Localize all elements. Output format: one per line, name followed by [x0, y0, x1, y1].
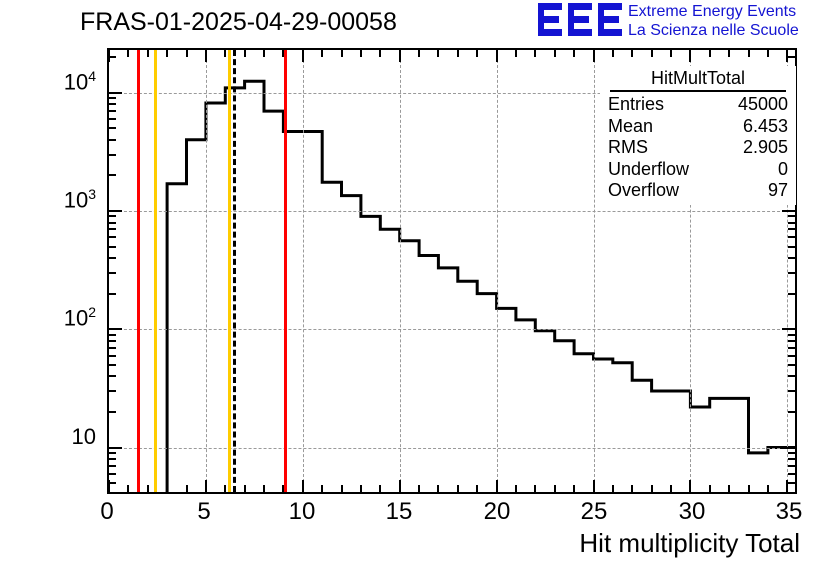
y-axis-tick: [109, 473, 116, 475]
x-axis-tick: [302, 480, 304, 492]
grid-line-horizontal: [109, 448, 795, 449]
stat-key: Entries: [608, 94, 664, 116]
x-axis-tick: [767, 50, 769, 57]
x-axis-tick: [748, 485, 750, 492]
y-axis-tick: [788, 228, 795, 230]
x-axis-tick: [244, 485, 246, 492]
y-axis-tick: [788, 452, 795, 454]
marker-line-yellow-high-cut: [228, 50, 231, 492]
y-axis-tick: [782, 447, 795, 449]
y-axis-tick: [109, 340, 116, 342]
x-axis-tick: [186, 485, 188, 492]
y-axis-tick: [788, 482, 795, 484]
y-axis-tick: [109, 56, 116, 58]
grid-line-horizontal: [109, 329, 795, 330]
stat-value: 2.905: [743, 137, 788, 159]
x-axis-tick: [728, 50, 730, 57]
x-axis-tick: [670, 50, 672, 57]
x-axis-tick: [302, 50, 304, 62]
y-axis-tick: [109, 222, 116, 224]
marker-line-red-high-cut: [284, 50, 287, 492]
y-axis-tick: [109, 174, 116, 176]
x-axis-tick: [263, 50, 265, 57]
x-tick-label-35: 35: [759, 498, 819, 526]
x-axis-tick: [593, 50, 595, 62]
x-tick-label-30: 30: [662, 498, 722, 526]
x-axis-tick: [437, 485, 439, 492]
x-axis-tick: [515, 485, 517, 492]
y-tick-label-10: 10: [8, 424, 96, 450]
y-axis-tick: [109, 139, 116, 141]
stat-row: Entries45000: [604, 94, 792, 116]
x-axis-tick: [631, 485, 633, 492]
stat-key: Overflow: [608, 180, 679, 202]
marker-line-red-low-cut: [137, 50, 140, 492]
x-axis-tick: [631, 50, 633, 57]
stats-box: HitMultTotal Entries45000Mean6.453RMS2.9…: [600, 66, 796, 205]
x-axis-tick: [437, 50, 439, 57]
stat-value: 97: [768, 180, 788, 202]
x-axis-tick: [399, 480, 401, 492]
x-axis-tick: [709, 485, 711, 492]
stat-value: 45000: [738, 94, 788, 116]
root-canvas: FRAS-01-2025-04-29-00058 Extreme Energy …: [0, 0, 836, 572]
eee-logo: Extreme Energy Events La Scienza nelle S…: [538, 2, 834, 40]
eee-logo-line-2: La Scienza nelle Scuole: [628, 21, 799, 40]
stat-key: Mean: [608, 116, 653, 138]
page-title: FRAS-01-2025-04-29-00058: [80, 8, 397, 37]
grid-line-vertical: [400, 50, 401, 492]
x-axis-tick: [476, 485, 478, 492]
x-axis-tick: [573, 485, 575, 492]
y-axis-tick: [109, 272, 116, 274]
x-axis-tick: [496, 50, 498, 62]
x-axis-tick: [321, 485, 323, 492]
x-axis-tick: [224, 50, 226, 57]
y-axis-tick: [109, 334, 116, 336]
x-axis-tick: [341, 50, 343, 57]
y-axis-tick: [109, 97, 116, 99]
y-axis-tick: [788, 257, 795, 259]
y-axis-tick: [788, 458, 795, 460]
y-axis-tick: [109, 215, 116, 217]
y-axis-tick: [109, 228, 116, 230]
y-tick-label-100: 102: [8, 304, 96, 331]
eee-letter-icon: [538, 3, 562, 37]
x-axis-tick: [127, 50, 129, 57]
y-axis-tick: [109, 210, 122, 212]
x-axis-tick: [593, 480, 595, 492]
grid-line-vertical: [594, 50, 595, 492]
x-axis-tick: [244, 50, 246, 57]
y-axis-tick: [788, 364, 795, 366]
x-axis-tick: [360, 485, 362, 492]
stat-row: Underflow0: [604, 159, 792, 181]
x-axis-tick: [457, 50, 459, 57]
x-axis-tick: [534, 50, 536, 57]
y-axis-tick: [788, 293, 795, 295]
x-axis-tick: [166, 50, 168, 57]
x-axis-tick: [205, 50, 207, 62]
y-axis-tick: [788, 465, 795, 467]
y-axis-tick: [109, 364, 116, 366]
x-axis-tick: [689, 480, 691, 492]
x-axis-tick: [341, 485, 343, 492]
x-tick-label-20: 20: [467, 498, 527, 526]
stat-row: Mean6.453: [604, 116, 792, 138]
y-axis-tick: [109, 328, 122, 330]
y-axis-tick: [109, 103, 116, 105]
y-axis-tick: [109, 118, 116, 120]
y-axis-tick: [109, 447, 122, 449]
y-axis-tick: [109, 347, 116, 349]
x-axis-title: Hit multiplicity Total: [579, 528, 800, 559]
y-axis-tick: [788, 340, 795, 342]
stat-value: 0: [778, 159, 788, 181]
x-axis-tick: [728, 485, 730, 492]
marker-line-yellow-low-cut: [154, 50, 157, 492]
y-tick-label-1000: 103: [8, 186, 96, 213]
y-axis-tick: [788, 375, 795, 377]
x-axis-tick: [360, 50, 362, 57]
y-axis-tick: [788, 236, 795, 238]
x-axis-tick: [651, 485, 653, 492]
stat-row: Overflow97: [604, 180, 792, 202]
grid-line-vertical: [497, 50, 498, 492]
x-tick-label-25: 25: [564, 498, 624, 526]
x-tick-label-10: 10: [272, 498, 332, 526]
y-axis-tick: [109, 482, 116, 484]
x-tick-label-5: 5: [174, 498, 234, 526]
x-axis-tick: [147, 50, 149, 57]
y-axis-tick: [109, 452, 116, 454]
y-axis-tick: [109, 236, 116, 238]
x-axis-tick: [534, 485, 536, 492]
x-axis-tick: [496, 480, 498, 492]
x-axis-tick: [767, 485, 769, 492]
x-tick-label-15: 15: [369, 498, 429, 526]
eee-letter-icon: [598, 3, 622, 37]
x-axis-tick: [709, 50, 711, 57]
grid-line-vertical: [206, 50, 207, 492]
y-axis-tick: [109, 465, 116, 467]
y-axis-tick: [788, 246, 795, 248]
x-axis-tick: [379, 485, 381, 492]
x-axis-tick: [186, 50, 188, 57]
y-axis-tick: [109, 246, 116, 248]
x-axis-tick: [224, 485, 226, 492]
stat-key: RMS: [608, 137, 648, 159]
y-axis-tick: [109, 458, 116, 460]
x-axis-tick: [418, 485, 420, 492]
y-axis-tick: [788, 355, 795, 357]
x-axis-tick: [379, 50, 381, 57]
marker-line-mean-line: [233, 50, 236, 492]
stat-row: RMS2.905: [604, 137, 792, 159]
y-axis-tick: [788, 272, 795, 274]
y-axis-tick: [788, 411, 795, 413]
y-axis-tick: [109, 154, 116, 156]
x-axis-tick: [689, 50, 691, 62]
eee-logo-mark: [538, 3, 622, 37]
x-axis-tick: [166, 485, 168, 492]
x-axis-tick: [515, 50, 517, 57]
x-axis-tick: [147, 485, 149, 492]
x-axis-tick: [476, 50, 478, 57]
x-axis-tick: [321, 50, 323, 57]
y-axis-tick: [788, 56, 795, 58]
x-axis-tick: [457, 485, 459, 492]
eee-letter-icon: [568, 3, 592, 37]
x-axis-tick: [748, 50, 750, 57]
y-axis-tick: [109, 257, 116, 259]
y-axis-tick: [109, 127, 116, 129]
eee-logo-line-1: Extreme Energy Events: [628, 2, 799, 21]
y-axis-tick: [109, 375, 116, 377]
x-axis-tick: [612, 50, 614, 57]
y-axis-tick: [788, 222, 795, 224]
x-axis-tick: [554, 485, 556, 492]
x-axis-tick: [554, 50, 556, 57]
y-axis-tick: [788, 334, 795, 336]
x-axis-tick: [205, 480, 207, 492]
y-axis-tick: [782, 210, 795, 212]
y-axis-tick: [788, 473, 795, 475]
y-axis-tick: [788, 215, 795, 217]
x-axis-tick: [418, 50, 420, 57]
y-axis-tick: [109, 293, 116, 295]
y-tick-label-10000: 104: [8, 68, 96, 95]
stat-key: Underflow: [608, 159, 689, 181]
y-axis-tick: [109, 390, 116, 392]
y-axis-tick: [109, 411, 116, 413]
y-axis-tick: [788, 347, 795, 349]
y-axis-tick: [788, 390, 795, 392]
stats-rows: Entries45000Mean6.453RMS2.905Underflow0O…: [604, 94, 792, 202]
y-axis-tick: [109, 110, 116, 112]
grid-line-horizontal: [109, 211, 795, 212]
grid-line-vertical: [303, 50, 304, 492]
x-axis-tick: [127, 485, 129, 492]
y-axis-tick: [782, 328, 795, 330]
x-axis-tick: [670, 485, 672, 492]
y-axis-tick: [109, 355, 116, 357]
y-axis-tick: [109, 92, 122, 94]
x-axis-tick: [573, 50, 575, 57]
eee-logo-text: Extreme Energy Events La Scienza nelle S…: [628, 2, 799, 40]
stat-value: 6.453: [743, 116, 788, 138]
x-axis-tick: [651, 50, 653, 57]
x-axis-tick: [612, 485, 614, 492]
x-axis-tick: [399, 50, 401, 62]
stats-title: HitMultTotal: [610, 68, 786, 92]
x-axis-tick: [263, 485, 265, 492]
x-tick-label-0: 0: [77, 498, 137, 526]
